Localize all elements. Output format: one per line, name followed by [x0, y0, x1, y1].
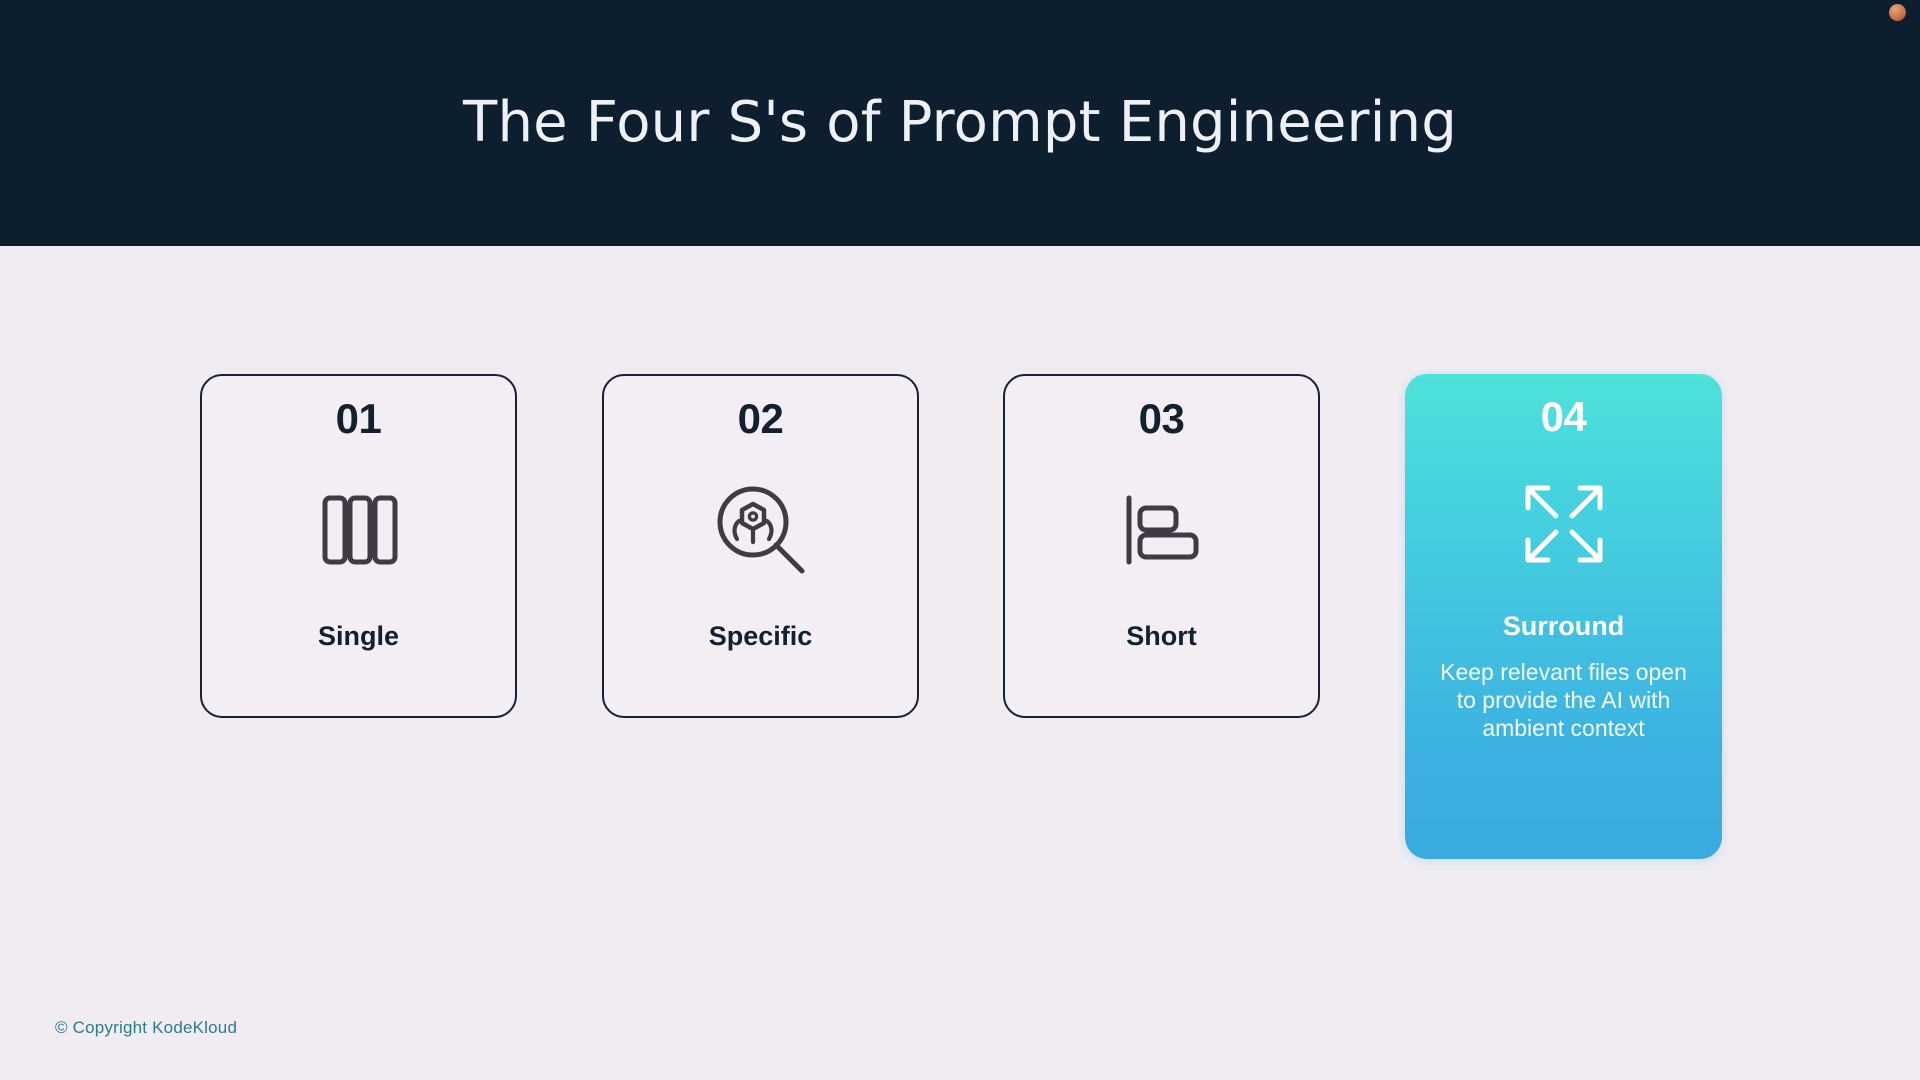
slide-body: 01 Single 02 — [0, 246, 1920, 1080]
card-number: 01 — [336, 398, 382, 440]
card-surround[interactable]: 04 Surround Keep relevant file — [1405, 374, 1722, 859]
three-columns-icon — [309, 470, 409, 590]
card-number: 03 — [1139, 398, 1185, 440]
avatar-dot-icon — [1889, 4, 1906, 21]
align-left-bars-icon — [1112, 470, 1212, 590]
expand-arrows-icon — [1514, 464, 1614, 584]
card-label: Specific — [709, 622, 813, 652]
card-specific[interactable]: 02 Specific — [602, 374, 919, 718]
card-number: 02 — [738, 398, 784, 440]
page-title: The Four S's of Prompt Engineering — [463, 92, 1457, 154]
slide-header: The Four S's of Prompt Engineering — [0, 0, 1920, 246]
card-label: Short — [1126, 622, 1197, 652]
copyright-footer: © Copyright KodeKloud — [55, 1018, 237, 1038]
card-number: 04 — [1541, 396, 1587, 438]
card-short[interactable]: 03 Short — [1003, 374, 1320, 718]
card-label: Surround — [1503, 612, 1625, 642]
magnifier-target-icon — [709, 470, 813, 590]
cards-row: 01 Single 02 — [0, 246, 1920, 946]
card-label: Single — [318, 622, 399, 652]
card-description: Keep relevant files open to provide the … — [1434, 658, 1694, 742]
card-single[interactable]: 01 Single — [200, 374, 517, 718]
